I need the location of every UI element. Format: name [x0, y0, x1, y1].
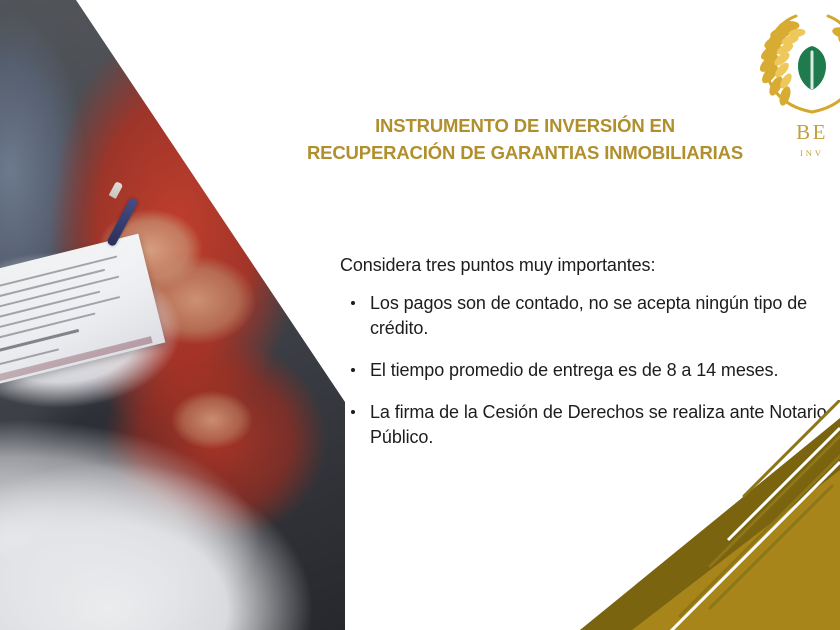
company-logo: BE INV: [750, 8, 840, 168]
list-item: Los pagos son de contado, no se acepta n…: [340, 291, 832, 341]
title-line-2: RECUPERACIÓN DE GARANTIAS INMOBILIARIAS: [290, 139, 760, 166]
list-item: El tiempo promedio de entrega es de 8 a …: [340, 358, 832, 383]
laurel-wreath-icon: [750, 8, 840, 120]
logo-wordmark: BE: [750, 120, 840, 145]
list-item: La firma de la Cesión de Derechos se rea…: [340, 400, 832, 450]
logo-tagline: INV: [750, 148, 840, 158]
slide-body: Considera tres puntos muy importantes: L…: [340, 252, 832, 450]
signing-documents-photo: [0, 0, 345, 630]
title-line-1: INSTRUMENTO DE INVERSIÓN EN: [290, 112, 760, 139]
slide-canvas: INSTRUMENTO DE INVERSIÓN EN RECUPERACIÓN…: [0, 0, 840, 630]
body-intro: Considera tres puntos muy importantes:: [340, 252, 832, 278]
slide-title: INSTRUMENTO DE INVERSIÓN EN RECUPERACIÓN…: [290, 112, 760, 166]
bullet-list: Los pagos son de contado, no se acepta n…: [340, 291, 832, 450]
